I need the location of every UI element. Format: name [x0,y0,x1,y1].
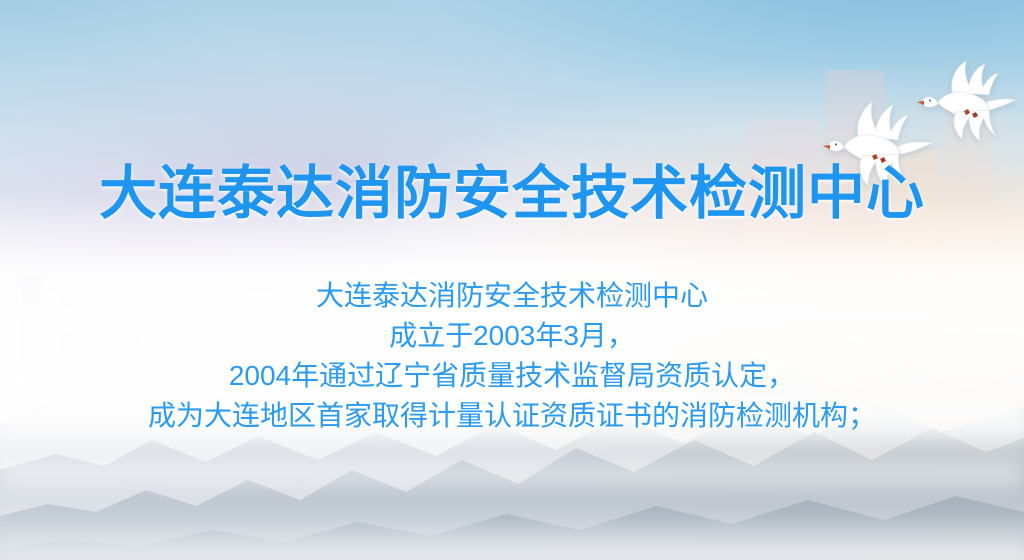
presentation-slide: 大连泰达消防安全技术检测中心 大连泰达消防安全技术检测中心 成立于2003年3月… [0,0,1024,560]
body-line: 成立于2003年3月， [0,316,1024,356]
body-line: 大连泰达消防安全技术检测中心 [0,276,1024,316]
slide-body-text: 大连泰达消防安全技术检测中心 成立于2003年3月， 2004年通过辽宁省质量技… [0,276,1024,436]
slide-title: 大连泰达消防安全技术检测中心 [0,160,1024,228]
body-line: 成为大连地区首家取得计量认证资质证书的消防检测机构； [0,396,1024,436]
dove-icon [906,58,1018,144]
body-line: 2004年通过辽宁省质量技术监督局资质认定， [0,356,1024,396]
